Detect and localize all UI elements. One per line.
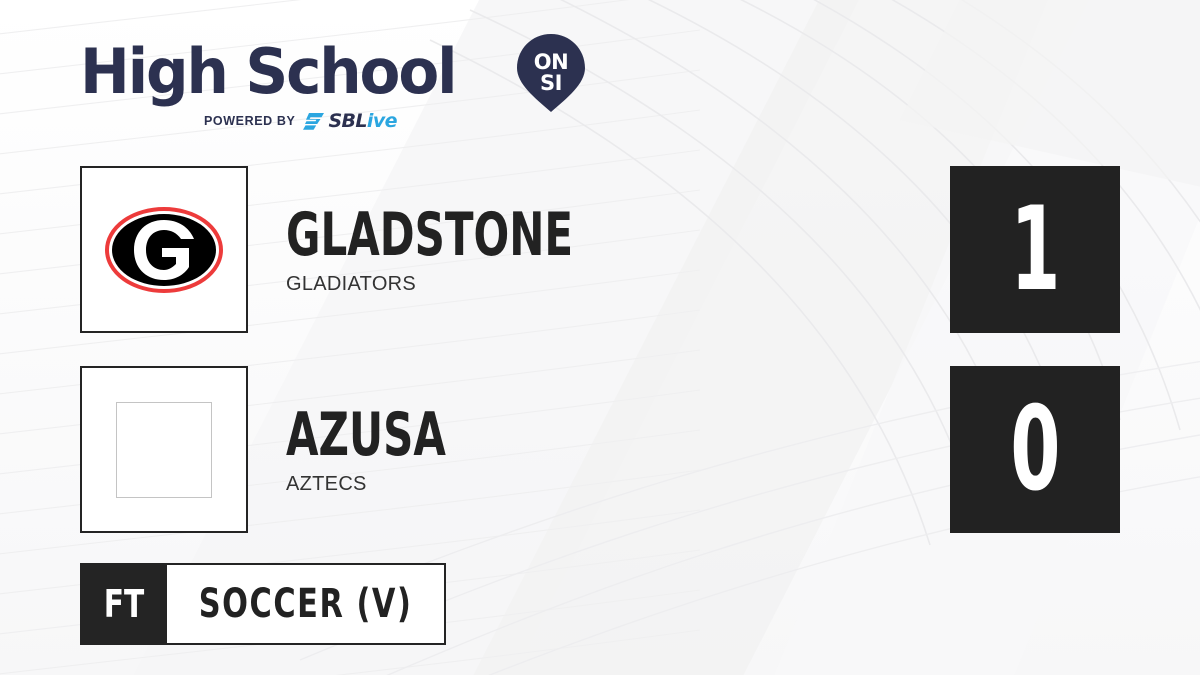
score-value-away: 0 xyxy=(1010,392,1060,508)
sblive-accent-part: ive xyxy=(367,110,397,132)
team-mascot-away: AZTECS xyxy=(286,472,514,496)
sblive-dark-part: SBL xyxy=(328,110,366,132)
on-si-map-pin-icon: ON SI xyxy=(513,32,589,114)
powered-by-row: POWERED BY SBLive xyxy=(204,110,397,132)
sblive-wordmark: SBLive xyxy=(328,110,396,132)
powered-by-label: POWERED BY xyxy=(204,110,295,132)
game-status-bar: FT SOCCER (V) xyxy=(80,563,446,645)
team-mascot-home: GLADIATORS xyxy=(286,272,696,296)
team-logo-card-home xyxy=(80,166,248,333)
brand-wordmark: High School xyxy=(80,36,510,108)
team-name-home: GLADSTONE xyxy=(286,204,573,266)
team-logo-card-away xyxy=(80,366,248,533)
status-sport-text: SOCCER (V) xyxy=(199,582,413,626)
score-value-home: 1 xyxy=(1010,192,1060,308)
gladstone-g-oval-logo-icon xyxy=(105,207,223,293)
score-box-away: 0 xyxy=(950,366,1120,533)
score-box-home: 1 xyxy=(950,166,1120,333)
scoreboard-graphic: High School ON SI POWERED BY SBLive xyxy=(0,0,1200,675)
status-code-badge: FT xyxy=(80,563,167,645)
team-info-home: GLADSTONE GLADIATORS xyxy=(286,166,696,333)
team-info-away: AZUSA AZTECS xyxy=(286,366,514,533)
sblive-s-mark-icon xyxy=(303,112,325,131)
status-code-text: FT xyxy=(103,584,143,624)
team-name-away: AZUSA xyxy=(286,404,446,466)
brand-wordmark-text: High School xyxy=(80,36,493,108)
pin-line-si: SI xyxy=(540,71,562,95)
sblive-logo: SBLive xyxy=(303,110,396,132)
brand-logo: High School ON SI POWERED BY SBLive xyxy=(80,36,510,136)
logo-placeholder-square-icon xyxy=(116,402,212,498)
status-sport-panel: SOCCER (V) xyxy=(167,563,446,645)
